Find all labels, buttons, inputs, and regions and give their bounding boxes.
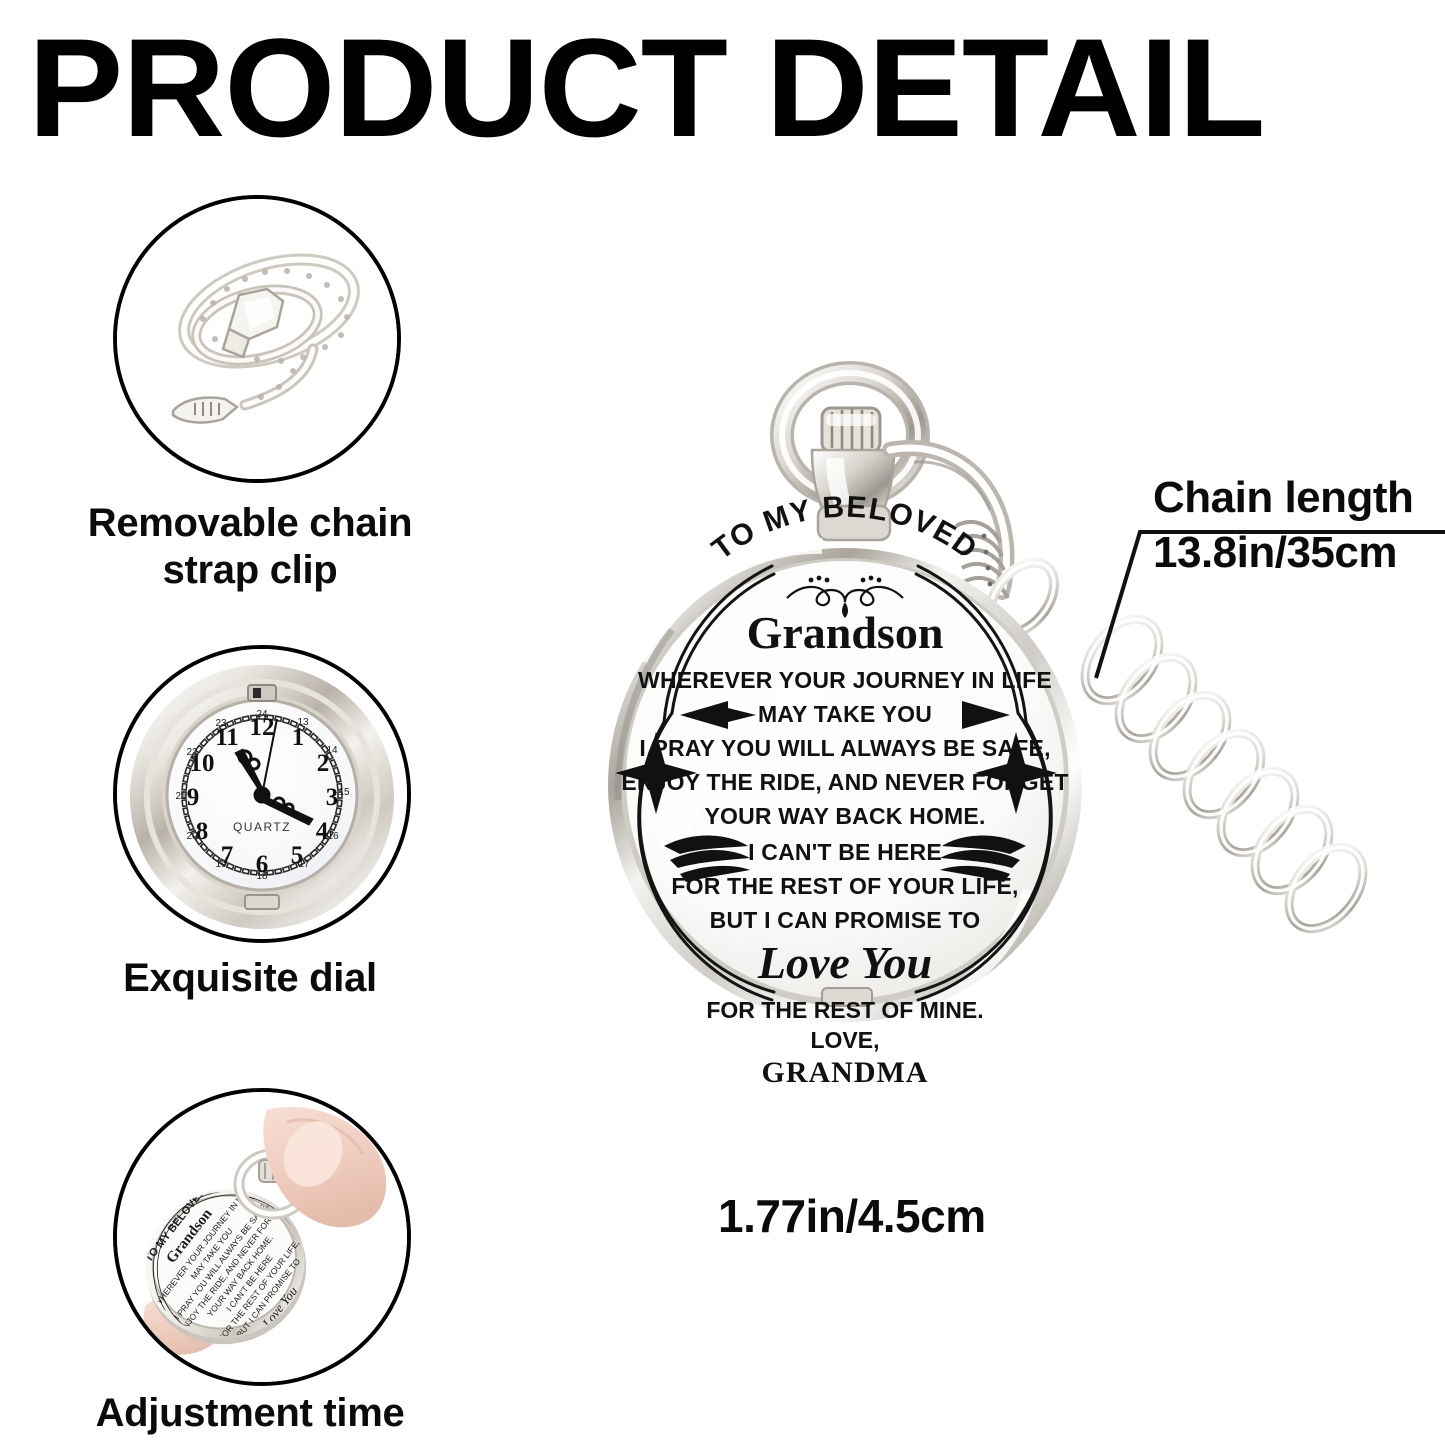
feature-thumbnail-removable-chain-strap-clip [113, 195, 401, 483]
svg-text:14: 14 [326, 745, 338, 756]
feature-label-line1: Exquisite dial [10, 955, 490, 1002]
feature-label-line1: Removable chain [10, 500, 490, 547]
chain-length-label: Chain length [1153, 473, 1413, 522]
svg-text:24: 24 [256, 709, 268, 720]
chain-length-value: 13.8in/35cm [1153, 525, 1413, 580]
annotation-case-diameter: 1.77in/4.5cm [718, 1188, 986, 1246]
feature-label-adjustment-time: Adjustment time [10, 1390, 490, 1437]
svg-text:13: 13 [297, 717, 309, 728]
engraving-line-6: FOR THE REST OF YOUR LIFE, [671, 873, 1018, 899]
watch-dial-photo: 12 1 2 3 4 5 6 7 8 9 10 11 24 13 14 15 1… [117, 649, 407, 939]
engraving-line-3: ENJOY THE RIDE, AND NEVER FORGET [621, 769, 1068, 795]
svg-text:8: 8 [196, 818, 209, 845]
page-title: PRODUCT DETAIL [28, 18, 1445, 158]
svg-text:23: 23 [215, 718, 227, 729]
chain-clip-photo [117, 199, 397, 479]
engraving-script-line: Love You [757, 937, 932, 988]
feature-label-line1: Adjustment time [10, 1390, 490, 1437]
feature-thumbnail-adjustment-time: TO MY BELOVED Grandson WHEREVER YOUR JOU… [113, 1088, 411, 1386]
engraving-line-4: YOUR WAY BACK HOME. [704, 803, 985, 829]
svg-text:15: 15 [338, 787, 350, 798]
engraving-line-7: BUT I CAN PROMISE TO [710, 907, 981, 933]
engraving-line-1: MAY TAKE YOU [758, 701, 932, 727]
svg-text:20: 20 [186, 831, 198, 842]
svg-text:1: 1 [292, 724, 305, 751]
pocket-watch-illustration: TO MY BELOVED Grandson WHEREVER YOUR JOU… [560, 330, 1400, 1160]
engraving-line-2: I PRAY YOU WILL ALWAYS BE SAFE, [639, 735, 1050, 761]
hand-adjusting-crown-photo: TO MY BELOVED Grandson WHEREVER YOUR JOU… [117, 1092, 407, 1382]
svg-text:22: 22 [186, 747, 198, 758]
annotation-chain-length: Chain length 13.8in/35cm [1153, 470, 1413, 580]
feature-label-removable-chain-strap-clip: Removable chain strap clip [10, 500, 490, 594]
svg-text:16: 16 [327, 831, 339, 842]
engraving-closing-line: FOR THE REST OF MINE. [706, 997, 983, 1023]
svg-text:9: 9 [187, 784, 200, 811]
feature-label-line2: strap clip [10, 547, 490, 594]
watch-crown [822, 408, 880, 452]
engraving-signoff-label: LOVE, [810, 1027, 879, 1053]
feature-thumbnail-exquisite-dial: 12 1 2 3 4 5 6 7 8 9 10 11 24 13 14 15 1… [113, 645, 411, 943]
svg-text:17: 17 [298, 859, 310, 870]
product-detail-page: PRODUCT DETAIL [0, 0, 1445, 1445]
svg-text:21: 21 [175, 791, 187, 802]
svg-text:3: 3 [326, 784, 339, 811]
engraving-line-0: WHEREVER YOUR JOURNEY IN LIFE [638, 667, 1052, 693]
engraving-signoff-name: GRANDMA [762, 1056, 929, 1089]
svg-text:18: 18 [256, 871, 268, 882]
engraving-line-5: I CAN'T BE HERE [748, 839, 942, 865]
svg-text:19: 19 [215, 859, 227, 870]
engraving-recipient: Grandson [747, 607, 944, 658]
main-product-image: TO MY BELOVED Grandson WHEREVER YOUR JOU… [560, 330, 1400, 1160]
feature-label-exquisite-dial: Exquisite dial [10, 955, 490, 1002]
dial-brand-text: QUARTZ [233, 820, 291, 834]
